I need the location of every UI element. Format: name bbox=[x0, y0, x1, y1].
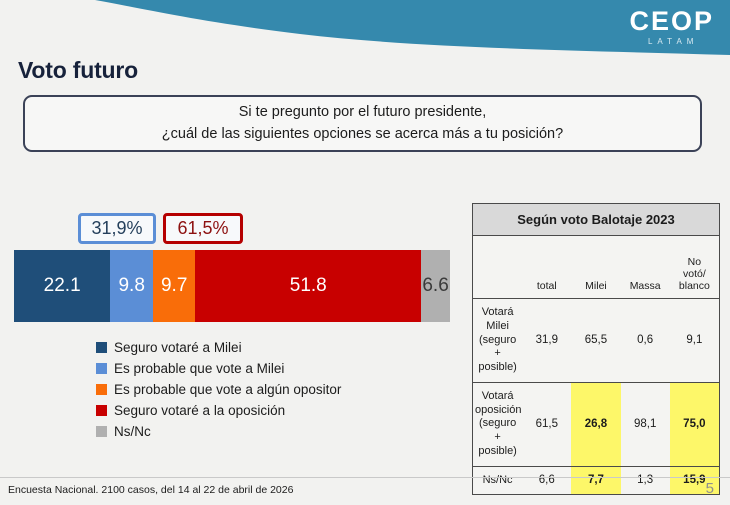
legend-item-1: Es probable que vote a Milei bbox=[96, 358, 341, 379]
badge-milei-total: 31,9% bbox=[78, 213, 156, 244]
crosstab-column-header-row: totalMileiMassaNovotó/blanco bbox=[473, 236, 719, 299]
legend-label-2: Es probable que vote a algún opositor bbox=[114, 382, 341, 397]
crosstab-cell-0-3: 9,1 bbox=[670, 299, 719, 383]
footer-source-note: Encuesta Nacional. 2100 casos, del 14 al… bbox=[8, 484, 293, 496]
chart-legend: Seguro votaré a MileiEs probable que vot… bbox=[96, 337, 341, 442]
crosstab-cell-0-2: 0,6 bbox=[621, 299, 670, 383]
crosstab-table: Según voto Balotaje 2023 totalMileiMassa… bbox=[472, 203, 720, 495]
ceop-latam-logo: CEOP LATAM bbox=[629, 8, 714, 46]
crosstab-col-header-4: Novotó/blanco bbox=[670, 236, 719, 299]
crosstab-row-label-0: Votará Milei(seguro + posible) bbox=[473, 299, 522, 383]
bar-segment-1: 9.8 bbox=[110, 250, 153, 322]
bar-segment-0: 22.1 bbox=[14, 250, 110, 322]
logo-wordmark: CEOP bbox=[629, 8, 714, 35]
crosstab-title-row: Según voto Balotaje 2023 bbox=[473, 204, 719, 236]
crosstab-row-label-line1-1: Votará oposición bbox=[475, 390, 520, 418]
bar-segment-3: 51.8 bbox=[195, 250, 421, 322]
crosstab-cell-2-0: 6,6 bbox=[522, 466, 571, 494]
crosstab-col-header-line-1-0: total bbox=[523, 280, 570, 292]
legend-swatch-icon-0 bbox=[96, 342, 107, 353]
crosstab-row-label-2: Ns/Nc bbox=[473, 466, 522, 494]
crosstab-body: Votará Milei(seguro + posible)31,965,50,… bbox=[473, 299, 719, 495]
legend-swatch-icon-4 bbox=[96, 426, 107, 437]
crosstab-col-header-3: Massa bbox=[621, 236, 670, 299]
crosstab-row-label-line1-0: Votará Milei bbox=[475, 306, 520, 334]
legend-label-0: Seguro votaré a Milei bbox=[114, 340, 242, 355]
crosstab-cell-1-3: 75,0 bbox=[670, 382, 719, 466]
bar-segment-label-0: 22.1 bbox=[44, 275, 81, 297]
table-row: Ns/Nc6,67,71,315,9 bbox=[473, 466, 719, 494]
stacked-bar-chart: 22.19.89.751.86.6 bbox=[14, 250, 450, 322]
question-line-1: Si te pregunto por el futuro presidente, bbox=[239, 102, 486, 123]
footer-divider bbox=[0, 477, 730, 478]
crosstab-cell-0-0: 31,9 bbox=[522, 299, 571, 383]
legend-item-0: Seguro votaré a Milei bbox=[96, 337, 341, 358]
crosstab-grid: Según voto Balotaje 2023 totalMileiMassa… bbox=[473, 204, 719, 494]
crosstab-col-header-line-4-2: blanco bbox=[671, 280, 718, 292]
legend-item-4: Ns/Nc bbox=[96, 421, 341, 442]
table-row: Votará oposición(seguro + posible)61,526… bbox=[473, 382, 719, 466]
page-number: 5 bbox=[706, 480, 714, 497]
legend-label-1: Es probable que vote a Milei bbox=[114, 361, 284, 376]
bar-segment-label-1: 9.8 bbox=[118, 275, 144, 297]
header-wave-shape bbox=[0, 0, 730, 62]
legend-swatch-icon-3 bbox=[96, 405, 107, 416]
crosstab-col-header-0 bbox=[473, 236, 522, 299]
crosstab-col-header-line-3-0: Massa bbox=[622, 280, 669, 292]
crosstab-cell-1-1: 26,8 bbox=[571, 382, 620, 466]
legend-item-2: Es probable que vote a algún opositor bbox=[96, 379, 341, 400]
crosstab-cell-1-0: 61,5 bbox=[522, 382, 571, 466]
bar-segment-2: 9.7 bbox=[153, 250, 195, 322]
crosstab-cell-2-1: 7,7 bbox=[571, 466, 620, 494]
crosstab-cell-1-2: 98,1 bbox=[621, 382, 670, 466]
bar-segment-label-2: 9.7 bbox=[161, 275, 187, 297]
crosstab-title: Según voto Balotaje 2023 bbox=[473, 204, 719, 236]
crosstab-cell-0-1: 65,5 bbox=[571, 299, 620, 383]
crosstab-row-label-line2-0: (seguro + posible) bbox=[475, 334, 520, 375]
page-title: Voto futuro bbox=[18, 57, 138, 84]
question-box: Si te pregunto por el futuro presidente,… bbox=[23, 95, 702, 152]
bar-segment-label-3: 51.8 bbox=[290, 275, 327, 297]
legend-label-3: Seguro votaré a la oposición bbox=[114, 403, 285, 418]
header-banner: CEOP LATAM bbox=[0, 0, 730, 62]
legend-item-3: Seguro votaré a la oposición bbox=[96, 400, 341, 421]
crosstab-col-header-line-4-1: votó/ bbox=[671, 268, 718, 280]
bar-segment-label-4: 6.6 bbox=[422, 275, 448, 297]
badge-oposicion-total: 61,5% bbox=[163, 213, 243, 244]
bar-segment-4: 6.6 bbox=[421, 250, 450, 322]
crosstab-col-header-2: Milei bbox=[571, 236, 620, 299]
crosstab-row-label-1: Votará oposición(seguro + posible) bbox=[473, 382, 522, 466]
crosstab-head: Según voto Balotaje 2023 totalMileiMassa… bbox=[473, 204, 719, 299]
crosstab-cell-2-2: 1,3 bbox=[621, 466, 670, 494]
legend-swatch-icon-1 bbox=[96, 363, 107, 374]
crosstab-col-header-line-2-0: Milei bbox=[572, 280, 619, 292]
legend-swatch-icon-2 bbox=[96, 384, 107, 395]
question-line-2: ¿cuál de las siguientes opciones se acer… bbox=[162, 124, 563, 145]
legend-label-4: Ns/Nc bbox=[114, 424, 151, 439]
crosstab-row-label-line2-1: (seguro + posible) bbox=[475, 417, 520, 458]
crosstab-col-header-1: total bbox=[522, 236, 571, 299]
crosstab-row-label-line1-2: Ns/Nc bbox=[475, 474, 520, 488]
crosstab-col-header-line-4-0: No bbox=[671, 256, 718, 268]
logo-tagline: LATAM bbox=[632, 38, 714, 46]
table-row: Votará Milei(seguro + posible)31,965,50,… bbox=[473, 299, 719, 383]
